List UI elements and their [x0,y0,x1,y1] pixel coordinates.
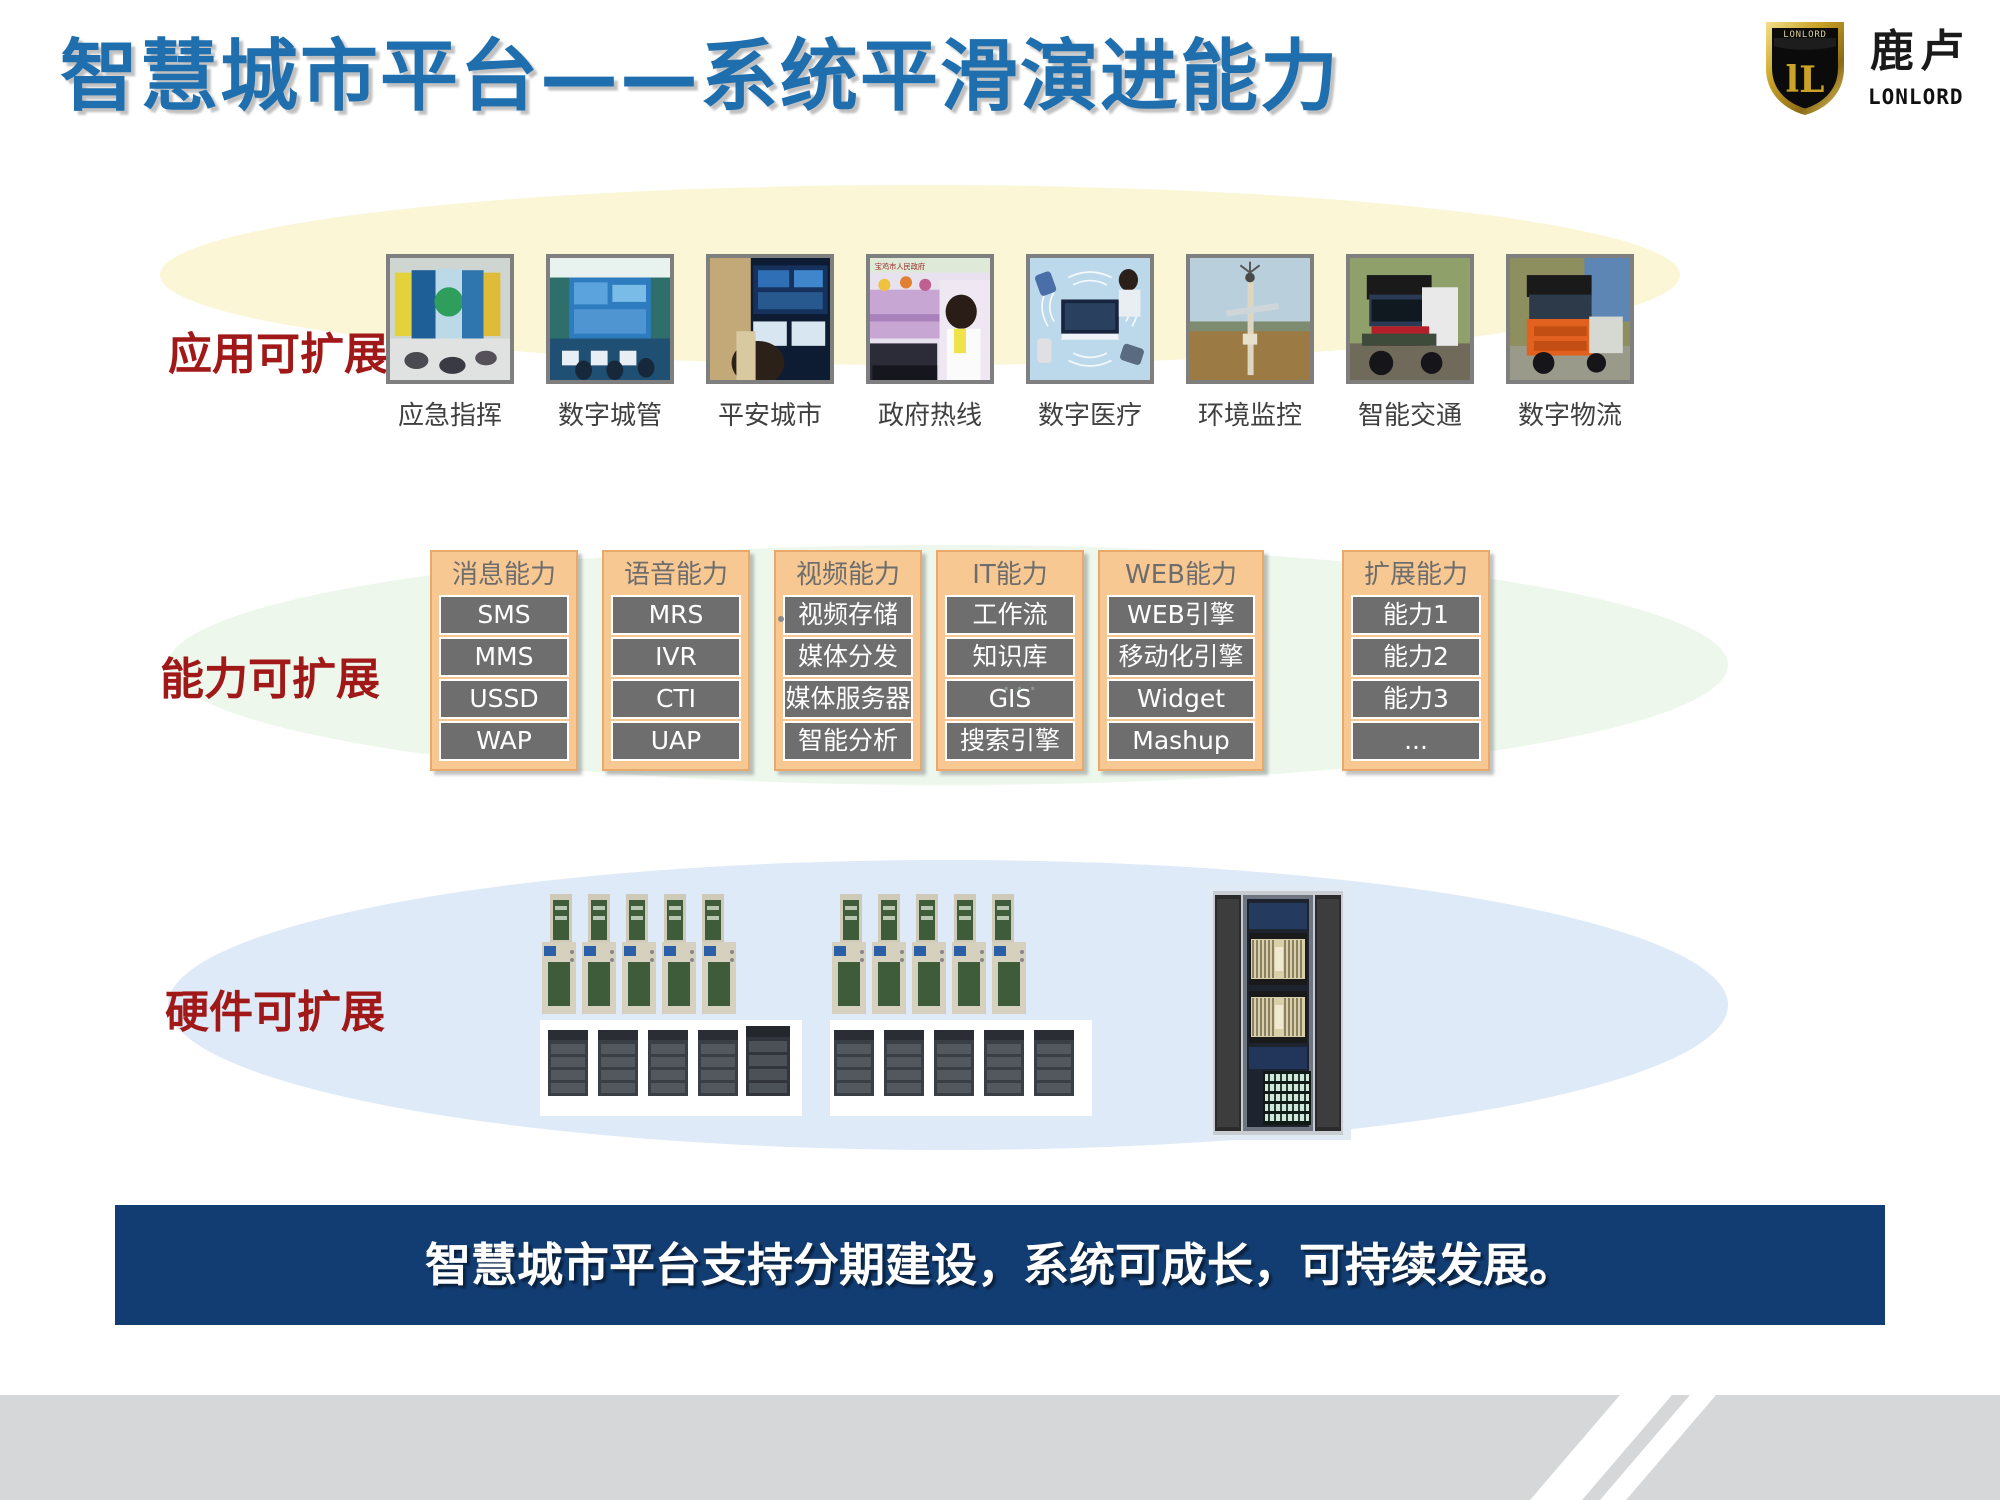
summary-banner-text: 智慧城市平台支持分期建设，系统可成长，可持续发展。 [115,1205,1885,1325]
svg-text:宝鸡市人民政府: 宝鸡市人民政府 [875,262,925,271]
slide-canvas: 智慧城市平台——系统平滑演进能力 LONLORD lL 鹿卢 LONLORD 应… [0,0,2000,1500]
capability-item[interactable]: MRS [611,595,741,635]
application-item[interactable]: 环境监控 [1186,254,1314,432]
capability-item[interactable]: 移动化引擎 [1107,637,1255,677]
application-caption: 政府热线 [866,400,994,432]
capability-item[interactable]: ... [1351,721,1481,761]
capability-marker-dot-icon [778,616,784,622]
capability-item[interactable]: 能力2 [1351,637,1481,677]
application-caption: 数字城管 [546,400,674,432]
capability-ellipsis: ... [1002,666,1042,696]
digital-healthcare-devices-photo [1026,254,1154,384]
server-cabinet-rack [1205,885,1351,1140]
digital-logistics-orange-truck-photo [1506,254,1634,384]
safe-city-surveillance-operator-photo [706,254,834,384]
capability-column-title: 视频能力 [783,558,913,595]
capability-item[interactable]: 工作流 [945,595,1075,635]
capability-item[interactable]: UAP [611,721,741,761]
application-caption: 环境监控 [1186,400,1314,432]
application-item[interactable]: 宝鸡市人民政府 政府热线 [866,254,994,432]
page-title: 智慧城市平台——系统平滑演进能力 [60,22,1760,132]
capability-item[interactable]: MMS [439,637,569,677]
application-caption: 数字物流 [1506,400,1634,432]
capability-column-title: IT能力 [945,558,1075,595]
capability-column-title: 扩展能力 [1351,558,1481,595]
capability-column-web[interactable]: WEB能力 WEB引擎 移动化引擎 Widget Mashup [1098,550,1264,771]
row-label-application: 应用可扩展 [168,327,388,383]
capability-column-it[interactable]: IT能力 工作流 知识库 GIS 搜索引擎 [936,550,1084,771]
capability-item[interactable]: 媒体分发 [783,637,913,677]
application-caption: 平安城市 [706,400,834,432]
environment-monitoring-weather-station-photo [1186,254,1314,384]
application-item[interactable]: 数字城管 [546,254,674,432]
capability-item[interactable]: USSD [439,679,569,719]
capability-item[interactable]: 能力3 [1351,679,1481,719]
city-management-control-room-photo [546,254,674,384]
application-item[interactable]: 智能交通 [1346,254,1474,432]
application-caption: 智能交通 [1346,400,1474,432]
brand-name-en: LONLORD [1868,84,1988,110]
capability-column-title: 语音能力 [611,558,741,595]
capability-item[interactable]: 视频存储 [783,595,913,635]
capability-column-extension[interactable]: 扩展能力 能力1 能力2 能力3 ... [1342,550,1490,771]
capability-column-video[interactable]: 视频能力 视频存储 媒体分发 媒体服务器 智能分析 [774,550,922,771]
footer-swoosh-decoration [1280,1395,2000,1500]
capability-column-messaging[interactable]: 消息能力 SMS MMS USSD WAP [430,550,578,771]
capability-item[interactable]: 搜索引擎 [945,721,1075,761]
svg-text:lL: lL [1786,59,1825,101]
capability-item[interactable]: WAP [439,721,569,761]
capability-item[interactable]: IVR [611,637,741,677]
command-center-videowall-photo [386,254,514,384]
capability-column-title: 消息能力 [439,558,569,595]
application-caption: 数字医疗 [1026,400,1154,432]
brand-name-cn: 鹿卢 [1870,26,1985,78]
capability-column-row: 消息能力 SMS MMS USSD WAP 语音能力 MRS IVR CTI U… [430,550,1560,810]
svg-text:LONLORD: LONLORD [1783,30,1827,40]
row-label-hardware: 硬件可扩展 [165,985,385,1041]
capability-column-voice[interactable]: 语音能力 MRS IVR CTI UAP [602,550,750,771]
application-item[interactable]: 数字医疗 [1026,254,1154,432]
capability-item[interactable]: Mashup [1107,721,1255,761]
application-item[interactable]: 平安城市 [706,254,834,432]
capability-item[interactable]: WEB引擎 [1107,595,1255,635]
capability-column-title: WEB能力 [1107,558,1255,595]
application-item[interactable]: 数字物流 [1506,254,1634,432]
summary-banner: 智慧城市平台支持分期建设，系统可成长，可持续发展。 [115,1205,1885,1325]
capability-item[interactable]: 媒体服务器 [783,679,913,719]
application-thumbnail-row: 应急指挥 数字城 [386,254,1636,454]
shield-logo-icon: LONLORD lL [1760,16,1850,118]
row-label-capability: 能力可扩展 [160,652,380,708]
application-caption: 应急指挥 [386,400,514,432]
capability-item[interactable]: 能力1 [1351,595,1481,635]
capability-item[interactable]: SMS [439,595,569,635]
application-item[interactable]: 应急指挥 [386,254,514,432]
government-hotline-call-center-photo: 宝鸡市人民政府 [866,254,994,384]
brand-logo: LONLORD lL 鹿卢 LONLORD [1760,14,1985,124]
blade-and-tower-servers-group-2 [830,890,1092,1130]
capability-item[interactable]: CTI [611,679,741,719]
capability-item[interactable]: Widget [1107,679,1255,719]
intelligent-transport-truck-photo [1346,254,1474,384]
capability-item[interactable]: 智能分析 [783,721,913,761]
blade-and-tower-servers-group-1 [540,890,802,1130]
